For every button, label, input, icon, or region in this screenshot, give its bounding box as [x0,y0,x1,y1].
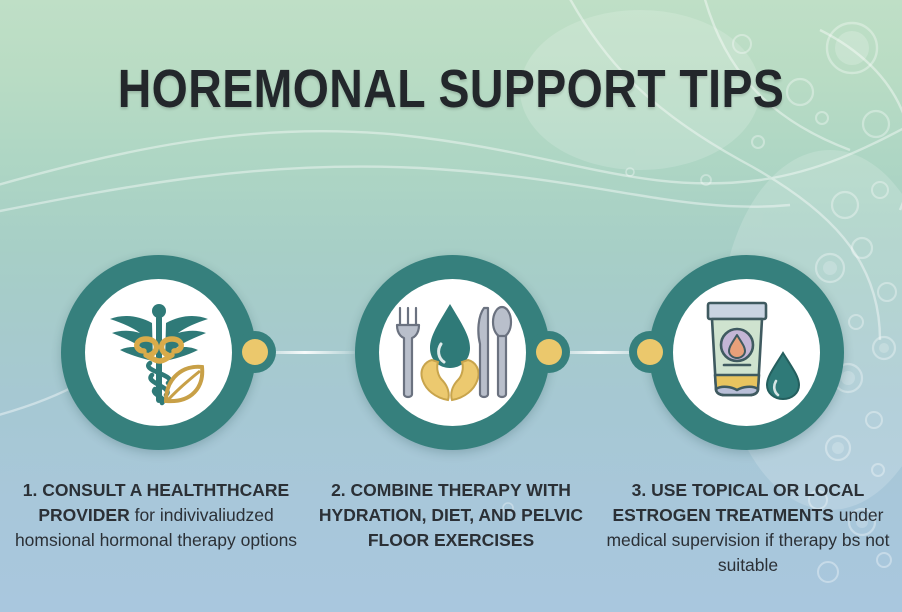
step-caption-1: 1. CONSULT A HEALTHTHCARE PROVIDER for i… [8,478,304,553]
step-disc-2 [379,279,526,426]
step-node-2[interactable] [355,255,550,450]
droplet-icon [767,353,799,399]
connector-2-3 [549,351,649,354]
fork-droplet-hands-knife-icon [392,298,514,408]
cream-tube-droplet-icon [688,297,806,409]
infographic-poster: HOREMONAL SUPPORT TIPS [0,0,902,612]
connector-dot-3 [637,339,663,365]
step-node-1[interactable] [61,255,256,450]
water-droplet-icon [430,304,470,368]
step-caption-2-lead: 2. COMBINE THERAPY WITH HYDRATION, DIET,… [319,480,583,550]
step-caption-2: 2. COMBINE THERAPY WITH HYDRATION, DIET,… [312,478,590,553]
fork-icon [397,308,419,397]
step-caption-3-lead: 3. USE TOPICAL OR LOCAL ESTROGEN TREATME… [613,480,865,525]
step-disc-3 [673,279,820,426]
tube-icon [708,303,766,395]
connector-1-2 [255,351,355,354]
leaf-icon [166,366,202,400]
spoon-icon [493,307,511,397]
caduceus-leaf-icon [100,293,218,413]
knife-icon [478,308,488,397]
step-caption-3: 3. USE TOPICAL OR LOCAL ESTROGEN TREATME… [600,478,896,578]
connector-dot-2 [536,339,562,365]
connector-dot-1 [242,339,268,365]
steps-row [0,255,902,455]
step-node-3[interactable] [649,255,844,450]
step-disc-1 [85,279,232,426]
captions-row: 1. CONSULT A HEALTHTHCARE PROVIDER for i… [0,478,902,608]
page-title: HOREMONAL SUPPORT TIPS [63,58,839,120]
